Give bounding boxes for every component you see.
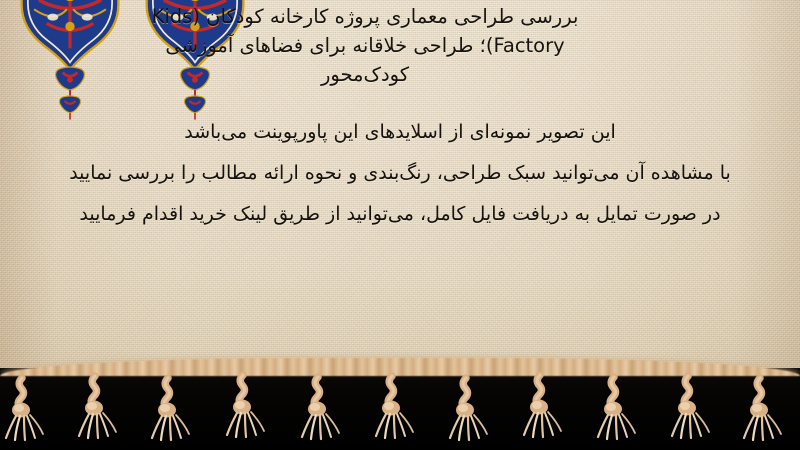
- slide-body: این تصویر نمونه‌ای از اسلایدهای این پاور…: [0, 112, 800, 235]
- knotted-carpet-fringe: [0, 368, 800, 450]
- slide-title-line-1: بررسی طراحی معماری پروژه کارخانه کودکان …: [0, 2, 730, 31]
- slide-body-line-1: این تصویر نمونه‌ای از اسلایدهای این پاور…: [0, 112, 800, 153]
- slide-title: بررسی طراحی معماری پروژه کارخانه کودکان …: [0, 2, 800, 89]
- slide-title-line-2: Factory)؛ طراحی خلاقانه برای فضاهای آموز…: [0, 31, 730, 60]
- slide-title-line-3: کودک‌محور: [0, 60, 730, 89]
- presentation-slide: بررسی طراحی معماری پروژه کارخانه کودکان …: [0, 0, 800, 450]
- slide-body-line-3: در صورت تمایل به دریافت فایل کامل، می‌تو…: [0, 194, 800, 235]
- slide-body-line-2: با مشاهده آن می‌توانید سبک طراحی، رنگ‌بن…: [0, 153, 800, 194]
